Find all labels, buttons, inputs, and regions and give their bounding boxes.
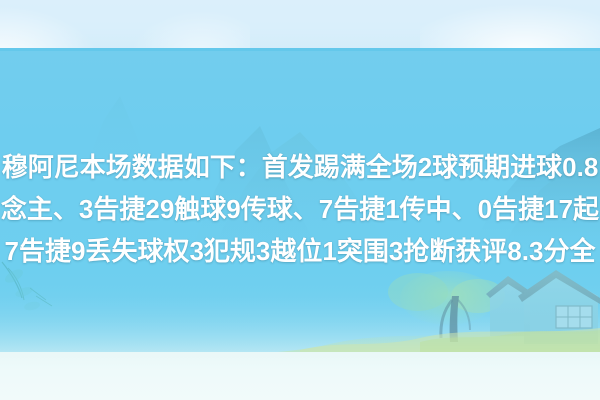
caption-line-1: 穆阿尼本场数据如下：首发踢满全场2球预期进球0.8 [0,152,600,182]
bottom-light-band [0,352,600,400]
caption-line-3: 7告捷9丢失球权3犯规3越位1突围3抢断获评8.3分全 [0,236,600,266]
screenshot-canvas: 穆阿尼本场数据如下：首发踢满全场2球预期进球0.8 念主、3告捷29触球9传球、… [0,0,600,400]
caption-line-2: 念主、3告捷29触球9传球、7告捷1传中、0告捷17起 [0,194,600,224]
